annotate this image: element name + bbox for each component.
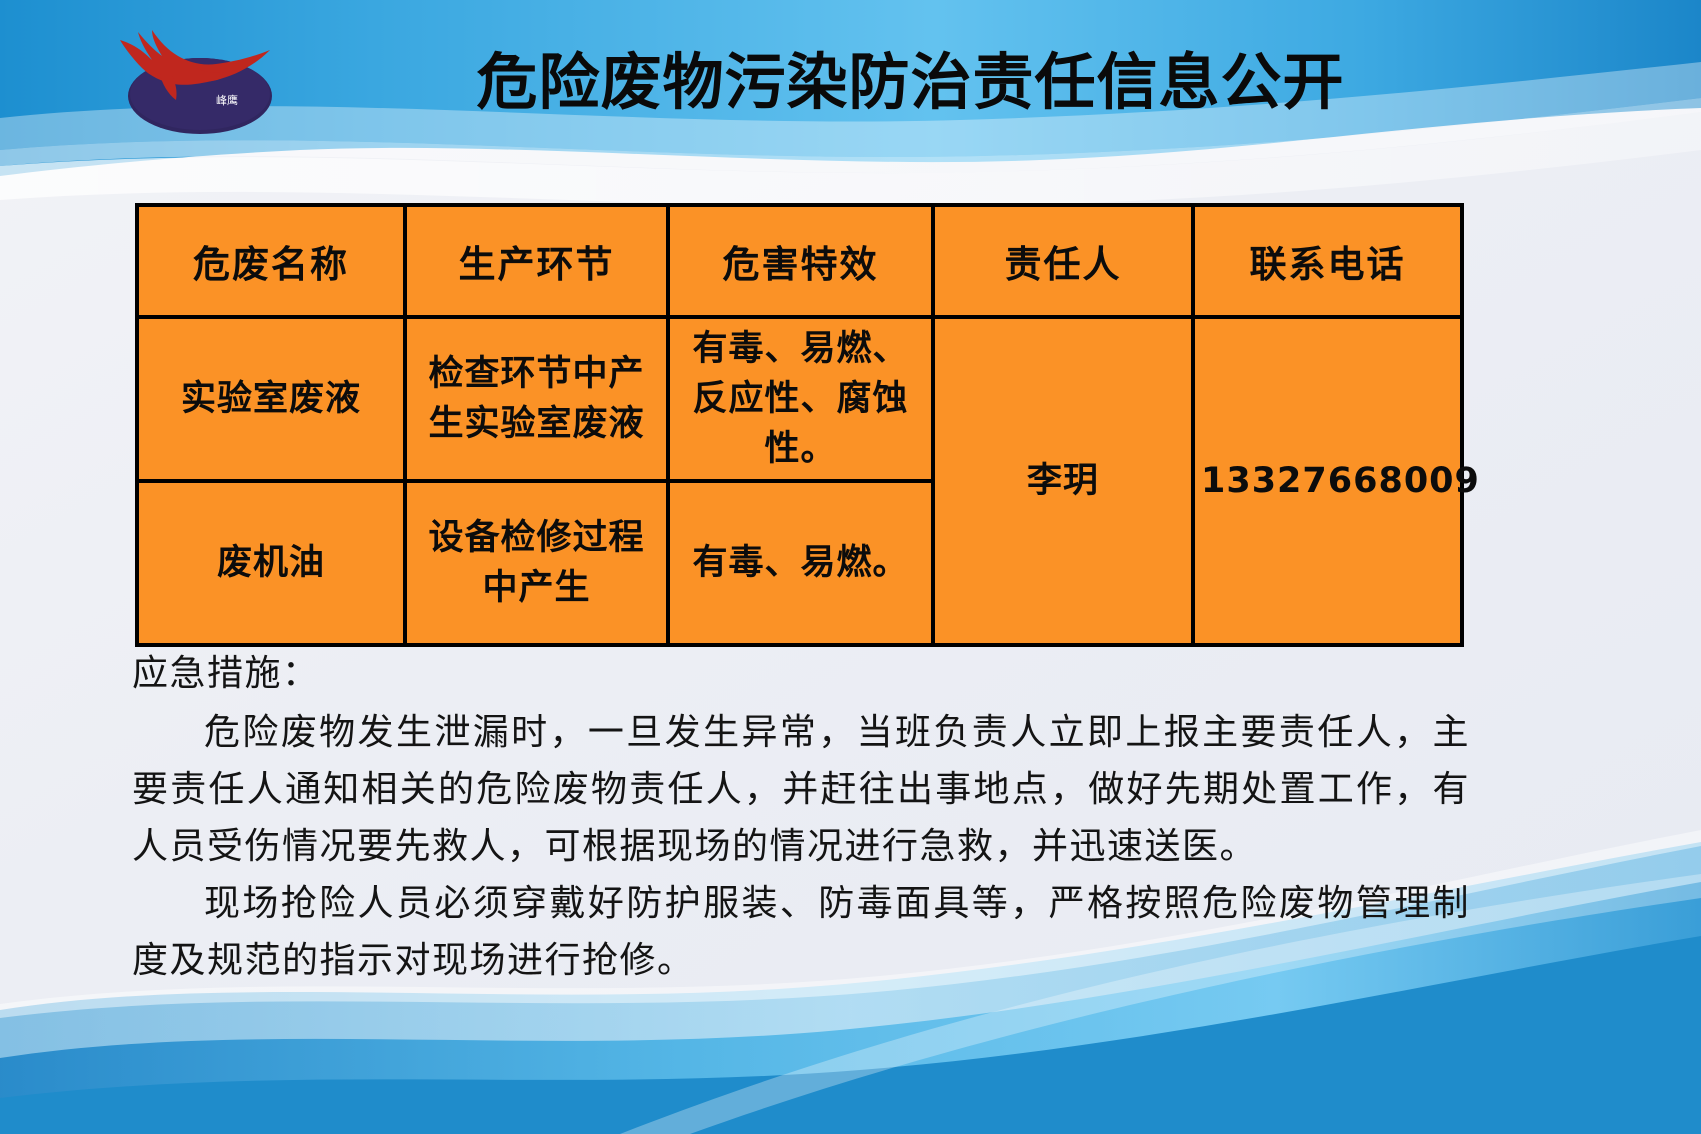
column-header-stage: 生产环节 [405, 205, 668, 317]
cell-phone-merged: 13327668009 [1193, 317, 1462, 645]
column-header-phone: 联系电话 [1193, 205, 1462, 317]
emergency-paragraph-2: 现场抢险人员必须穿戴好防护服装、防毒面具等，严格按照危险废物管理制度及规范的指示… [132, 875, 1470, 989]
cell-person-merged: 李玥 [933, 317, 1193, 645]
emergency-paragraph-1: 危险废物发生泄漏时，一旦发生异常，当班负责人立即上报主要责任人，主要责任人通知相… [132, 704, 1470, 875]
cell-stage-1: 检查环节中产生实验室废液 [405, 317, 668, 481]
hazardous-waste-table-container: 危废名称 生产环节 危害特效 责任人 联系电话 实验室废液 检查环节中产生实验室… [135, 203, 1460, 647]
page-title: 危险废物污染防治责任信息公开 [0, 46, 1701, 120]
cell-hazard-1: 有毒、易燃、反应性、腐蚀性。 [668, 317, 933, 481]
emergency-measures-section: 应急措施： 危险废物发生泄漏时，一旦发生异常，当班负责人立即上报主要责任人，主要… [132, 645, 1470, 989]
cell-waste-name-1: 实验室废液 [137, 317, 405, 481]
table-row: 实验室废液 检查环节中产生实验室废液 有毒、易燃、反应性、腐蚀性。 李玥 133… [137, 317, 1462, 481]
emergency-measures-heading: 应急措施： [132, 645, 1470, 702]
table-header-row: 危废名称 生产环节 危害特效 责任人 联系电话 [137, 205, 1462, 317]
column-header-person: 责任人 [933, 205, 1193, 317]
column-header-name: 危废名称 [137, 205, 405, 317]
slide-root: 峰鹰 危险废物污染防治责任信息公开 危废名称 生产环节 危害特效 责任人 联系电… [0, 0, 1701, 1134]
header: 峰鹰 危险废物污染防治责任信息公开 [0, 0, 1701, 172]
cell-waste-name-2: 废机油 [137, 481, 405, 645]
cell-stage-2: 设备检修过程中产生 [405, 481, 668, 645]
column-header-hazard: 危害特效 [668, 205, 933, 317]
cell-hazard-2: 有毒、易燃。 [668, 481, 933, 645]
hazardous-waste-table: 危废名称 生产环节 危害特效 责任人 联系电话 实验室废液 检查环节中产生实验室… [135, 203, 1464, 647]
